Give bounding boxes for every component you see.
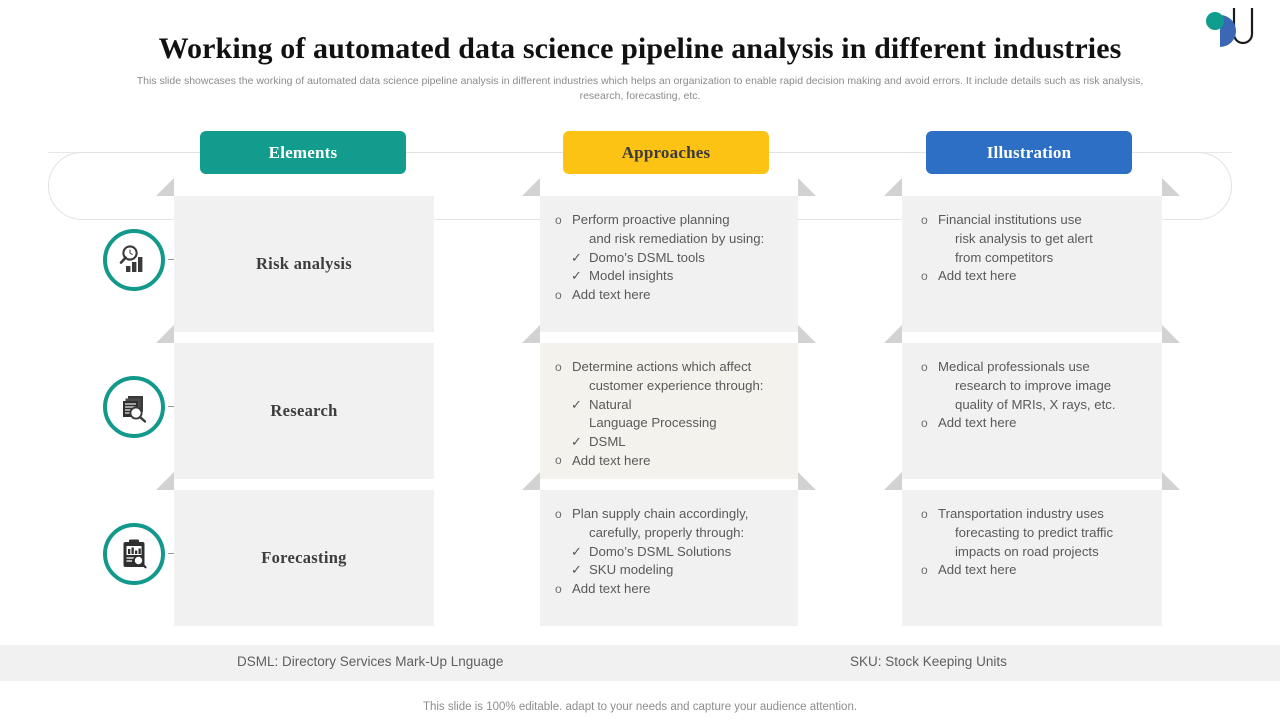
corner-fold-right-icon	[798, 472, 816, 490]
corner-fold-right-icon	[1162, 472, 1180, 490]
row-icon-badge	[103, 523, 165, 585]
list-item: Transportation industry uses	[920, 505, 1152, 524]
illustration-list: Transportation industry uses forecasting…	[920, 505, 1152, 580]
list-item: ✓Natural	[554, 396, 788, 415]
approach-list: Plan supply chain accordingly, carefully…	[554, 505, 788, 599]
element-card[interactable]: Research	[174, 343, 434, 479]
brand-logo-svg	[1200, 6, 1262, 50]
check-icon: ✓	[571, 433, 582, 452]
check-icon: ✓	[571, 267, 582, 286]
list-item: ✓DSML	[554, 433, 788, 452]
check-icon: ✓	[571, 396, 582, 415]
documents-magnifier-icon	[117, 390, 151, 424]
clipboard-chart-magnifier-icon	[117, 537, 151, 571]
list-item: Add text here	[920, 414, 1152, 433]
illustration-list: Medical professionals use research to im…	[920, 358, 1152, 433]
row-icon-badge	[103, 229, 165, 291]
list-item: Add text here	[920, 561, 1152, 580]
page-title: Working of automated data science pipeli…	[80, 28, 1200, 70]
bottom-note: This slide is 100% editable. adapt to yo…	[0, 701, 1280, 713]
approach-card[interactable]: Plan supply chain accordingly, carefully…	[540, 490, 798, 626]
legend-sku: SKU: Stock Keeping Units	[850, 654, 1007, 669]
list-item: Add text here	[920, 267, 1152, 286]
list-item: Add text here	[554, 452, 788, 471]
list-item: Add text here	[554, 286, 788, 305]
list-item-label: DSML	[589, 434, 626, 449]
corner-fold-left-icon	[156, 178, 174, 196]
list-item: and risk remediation by using:	[554, 230, 788, 249]
list-item: Language Processing	[554, 414, 788, 433]
element-label: Forecasting	[174, 490, 434, 626]
list-item: forecasting to predict traffic	[920, 524, 1152, 543]
list-item-label: SKU modeling	[589, 562, 673, 577]
list-item-label: Model insights	[589, 268, 673, 283]
column-header-elements[interactable]: Elements	[200, 131, 406, 174]
illustration-list: Financial institutions use risk analysis…	[920, 211, 1152, 286]
column-header-approaches[interactable]: Approaches	[563, 131, 769, 174]
approach-card[interactable]: Determine actions which affect customer …	[540, 343, 798, 479]
legend-bar: DSML: Directory Services Mark-Up Lnguage…	[0, 645, 1280, 681]
list-item-label: Natural	[589, 397, 632, 412]
element-card[interactable]: Risk analysis	[174, 196, 434, 332]
list-item-label: Domo’s DSML tools	[589, 250, 705, 265]
approach-list: Determine actions which affect customer …	[554, 358, 788, 471]
list-item: Financial institutions use	[920, 211, 1152, 230]
corner-fold-left-icon	[156, 472, 174, 490]
list-item: risk analysis to get alert	[920, 230, 1152, 249]
element-label: Risk analysis	[174, 196, 434, 332]
table-row: Risk analysis Perform proactive planning…	[0, 196, 1280, 332]
element-card[interactable]: Forecasting	[174, 490, 434, 626]
table-row: Forecasting Plan supply chain accordingl…	[0, 490, 1280, 626]
check-icon: ✓	[571, 561, 582, 580]
list-item: quality of MRIs, X rays, etc.	[920, 396, 1152, 415]
list-item: customer experience through:	[554, 377, 788, 396]
corner-fold-left-icon	[884, 472, 902, 490]
magnifier-bar-chart-icon	[117, 243, 151, 277]
list-item-label: Domo’s DSML Solutions	[589, 544, 731, 559]
list-item: ✓Domo’s DSML Solutions	[554, 543, 788, 562]
list-item: impacts on road projects	[920, 543, 1152, 562]
brand-logo	[1200, 6, 1262, 50]
check-icon: ✓	[571, 543, 582, 562]
illustration-card[interactable]: Medical professionals use research to im…	[902, 343, 1162, 479]
list-item: ✓SKU modeling	[554, 561, 788, 580]
corner-fold-right-icon	[1162, 325, 1180, 343]
corner-fold-left-icon	[522, 325, 540, 343]
corner-fold-right-icon	[798, 325, 816, 343]
list-item: Add text here	[554, 580, 788, 599]
approach-card[interactable]: Perform proactive planning and risk reme…	[540, 196, 798, 332]
list-item: carefully, properly through:	[554, 524, 788, 543]
corner-fold-left-icon	[522, 178, 540, 196]
row-icon-badge	[103, 376, 165, 438]
corner-fold-right-icon	[798, 178, 816, 196]
corner-fold-left-icon	[522, 472, 540, 490]
corner-fold-left-icon	[884, 178, 902, 196]
list-item: Plan supply chain accordingly,	[554, 505, 788, 524]
list-item: Medical professionals use	[920, 358, 1152, 377]
legend-dsml: DSML: Directory Services Mark-Up Lnguage	[237, 654, 503, 669]
list-item: Determine actions which affect	[554, 358, 788, 377]
corner-fold-left-icon	[884, 325, 902, 343]
list-item: ✓Domo’s DSML tools	[554, 249, 788, 268]
table-row: Research Determine actions which affect …	[0, 343, 1280, 479]
element-label: Research	[174, 343, 434, 479]
corner-fold-left-icon	[156, 325, 174, 343]
page-subtitle: This slide showcases the working of auto…	[135, 74, 1145, 103]
illustration-card[interactable]: Transportation industry uses forecasting…	[902, 490, 1162, 626]
corner-fold-right-icon	[1162, 178, 1180, 196]
column-header-illustration[interactable]: Illustration	[926, 131, 1132, 174]
illustration-card[interactable]: Financial institutions use risk analysis…	[902, 196, 1162, 332]
list-item: ✓Model insights	[554, 267, 788, 286]
list-item: Perform proactive planning	[554, 211, 788, 230]
approach-list: Perform proactive planning and risk reme…	[554, 211, 788, 305]
list-item: from competitors	[920, 249, 1152, 268]
list-item: research to improve image	[920, 377, 1152, 396]
check-icon: ✓	[571, 249, 582, 268]
